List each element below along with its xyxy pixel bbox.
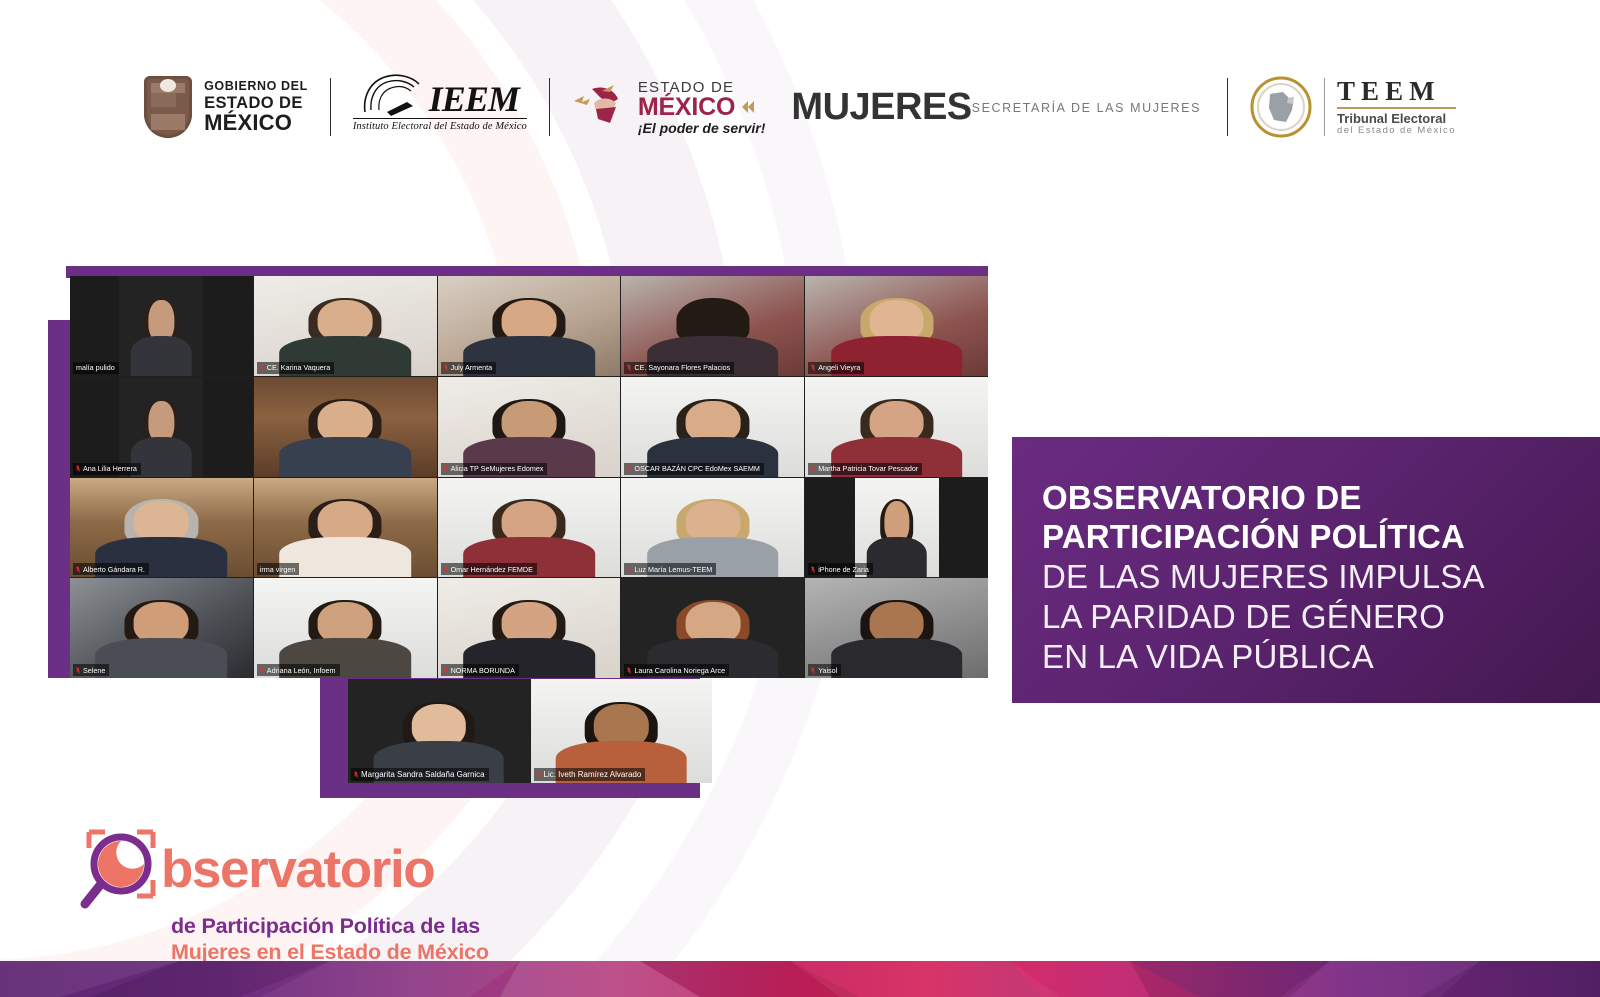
participant-nametag: Selene [73,664,109,676]
mic-muted-icon [811,667,815,674]
coat-of-arms-icon [144,76,192,138]
mic-muted-icon [260,667,264,674]
participant-name: CE. Sayonara Flores Palacios [634,363,730,372]
participant-nametag: Yaisol [808,664,841,676]
video-tile[interactable]: iPhone de Zaria [805,478,988,578]
logo-divider-2 [549,78,550,136]
mic-muted-icon [76,566,80,573]
video-tile[interactable]: Omar Hernández FEMDE [438,478,621,578]
logo-gobierno-estado-mexico: GOBIERNO DEL ESTADO DE MÉXICO [144,72,308,142]
frame-accent-left [48,320,70,678]
participant-name: Lic. Iveth Ramírez Alvarado [544,770,642,780]
title-line-3: DE LAS MUJERES IMPULSA [1042,557,1600,597]
participant-nametag: Omar Hernández FEMDE [441,563,537,575]
chevron-left-accent-icon [739,100,755,114]
participant-name: Alberto Gándara R. [83,565,145,574]
teem-rule [1337,107,1456,109]
participant-name: Yaisol [818,666,837,675]
participant-nametag: CE. Sayonara Flores Palacios [624,362,734,374]
mujeres-wordmark: MUJERES [791,88,971,126]
mic-muted-icon [811,465,815,472]
participant-name: Selene [83,666,105,675]
title-line-1: OBSERVATORIO DE [1042,479,1600,518]
video-tile[interactable]: Laura Carolina Noriega Arce [621,578,804,678]
footer-polygons [0,961,1600,997]
observatorio-wordmark: bservatorio [161,846,434,895]
mic-muted-icon [627,364,631,371]
participant-nametag: Angeli Vieyra [808,362,864,374]
mic-muted-icon [354,771,358,778]
participant-name: Alicia TP SeMujeres Edomex [451,464,544,473]
participant-name: July Armenta [451,363,493,372]
participant-name: CE. Karina Vaquera [267,363,330,372]
mic-muted-icon [76,667,80,674]
observatorio-line2: de Participación Política de las [171,914,489,939]
mujeres-subtitle: SECRETARÍA DE LAS MUJERES [972,102,1201,115]
logo-ieem: IEEM Instituto Electoral del Estado de M… [353,72,527,142]
participant-name: malía pulido [76,363,115,372]
title-panel: OBSERVATORIO DE PARTICIPACIÓN POLÍTICA D… [1012,437,1600,703]
video-tile[interactable]: Alicia TP SeMujeres Edomex [438,377,621,477]
gem-line3: MÉXICO [204,112,308,134]
participant-nametag: iPhone de Zaria [808,563,873,575]
participant-nametag: Martha Patricia Tovar Pescador [808,463,922,475]
participant-nametag: NORMA BORUNDA [441,664,519,676]
participant-nametag: Margarita Sandra Saldaña Garnica [351,768,489,781]
header-logo-strip: GOBIERNO DEL ESTADO DE MÉXICO IEEM Insti… [0,62,1600,152]
edomex-line3: ¡El poder de servir! [638,121,766,135]
video-tile[interactable]: OSCAR BAZÁN CPC EdoMex SAEMM [621,377,804,477]
participant-body [279,437,411,477]
video-feed [119,276,203,376]
participant-name: OSCAR BAZÁN CPC EdoMex SAEMM [634,464,759,473]
video-tile[interactable]: Selene [70,578,253,678]
participant-name: Omar Hernández FEMDE [451,565,533,574]
video-tile[interactable] [254,377,437,477]
participant-name: Adriana León, Infoem [267,666,336,675]
video-tile[interactable]: malía pulido [70,276,253,376]
participant-name: Margarita Sandra Saldaña Garnica [361,770,485,780]
video-tile[interactable]: CE. Karina Vaquera [254,276,437,376]
participant-body [831,638,963,678]
teem-seal-icon [1250,76,1312,138]
footer-gradient-bar [0,961,1600,997]
video-tile[interactable]: Angeli Vieyra [805,276,988,376]
participant-nametag: July Armenta [441,362,497,374]
video-tile[interactable]: Yaisol [805,578,988,678]
magnifier-icon [75,824,167,916]
video-tile[interactable]: Martha Patricia Tovar Pescador [805,377,988,477]
video-tile[interactable]: Alberto Gándara R. [70,478,253,578]
teem-line3: del Estado de México [1337,125,1456,136]
ieem-wordmark: IEEM [429,82,519,116]
participant-body [131,336,192,376]
participant-nametag: irma virgen [257,563,300,575]
mic-muted-icon [537,771,541,778]
mic-muted-icon [811,364,815,371]
title-line-4: LA PARIDAD DE GÉNERO [1042,597,1600,637]
observatorio-logo: bservatorio de Participación Política de… [75,824,489,965]
video-tile[interactable]: Margarita Sandra Saldaña Garnica [348,679,530,783]
logo-teem: TEEM Tribunal Electoral del Estado de Mé… [1250,72,1456,142]
mic-muted-icon [627,465,631,472]
mic-muted-icon [627,667,631,674]
participant-nametag: CE. Karina Vaquera [257,362,334,374]
participant-nametag: Luz María Lemus-TEEM [624,563,716,575]
mic-muted-icon [260,364,264,371]
video-tile[interactable]: irma virgen [254,478,437,578]
video-tile[interactable]: Ana Lilia Herrera [70,377,253,477]
participant-nametag: Laura Carolina Noriega Arce [624,664,729,676]
video-feed [254,377,437,477]
mic-muted-icon [444,364,448,371]
participant-nametag: OSCAR BAZÁN CPC EdoMex SAEMM [624,463,763,475]
video-tile[interactable]: NORMA BORUNDA [438,578,621,678]
title-line-2: PARTICIPACIÓN POLÍTICA [1042,518,1600,557]
participant-name: irma virgen [260,565,296,574]
hummingbird-icon [572,79,630,135]
participant-name: Martha Patricia Tovar Pescador [818,464,918,473]
video-tile[interactable]: Lic. Iveth Ramírez Alvarado [531,679,713,783]
mic-muted-icon [627,566,631,573]
video-tile[interactable]: Luz María Lemus-TEEM [621,478,804,578]
teem-wordmark: TEEM [1337,78,1456,105]
participant-nametag: Alberto Gándara R. [73,563,149,575]
gem-line2: ESTADO DE [204,95,308,112]
participant-name: NORMA BORUNDA [451,666,515,675]
video-grid: malía pulidoCE. Karina VaqueraJuly Armen… [70,276,988,678]
participant-nametag: Adriana León, Infoem [257,664,340,676]
mic-muted-icon [444,465,448,472]
edomex-line2: MÉXICO [638,95,735,120]
observatorio-word-rest: bservatorio [161,840,434,899]
ieem-subtitle: Instituto Electoral del Estado de México [353,118,527,132]
mic-muted-icon [811,566,815,573]
participant-nametag: Lic. Iveth Ramírez Alvarado [534,768,646,781]
participant-name: iPhone de Zaria [818,565,869,574]
logo-divider-1 [330,78,331,136]
participant-nametag: Alicia TP SeMujeres Edomex [441,463,548,475]
video-tile[interactable]: July Armenta [438,276,621,376]
participant-nametag: malía pulido [73,362,119,374]
mic-muted-icon [444,566,448,573]
mic-muted-icon [444,667,448,674]
title-line-5: EN LA VIDA PÚBLICA [1042,637,1600,677]
mic-muted-icon [76,465,80,472]
participant-nametag: Ana Lilia Herrera [73,463,141,475]
video-grid-bottom-row: Margarita Sandra Saldaña GarnicaLic. Ive… [348,679,712,783]
video-tile[interactable]: CE. Sayonara Flores Palacios [621,276,804,376]
participant-body [866,537,927,577]
participant-name: Ana Lilia Herrera [83,464,137,473]
logo-edomex-poder-de-servir: ESTADO DE MÉXICO ¡El poder de servir! [572,72,766,142]
teem-line2: Tribunal Electoral [1337,112,1456,126]
logo-divider-3 [1227,78,1228,136]
participant-name: Luz María Lemus-TEEM [634,565,712,574]
gem-line1: GOBIERNO DEL [204,80,308,93]
participant-body [96,638,228,678]
logo-secretaria-mujeres: MUJERES SECRETARÍA DE LAS MUJERES [791,72,1201,142]
hand-ballot-icon [361,72,423,116]
participant-name: Laura Carolina Noriega Arce [634,666,725,675]
participant-name: Angeli Vieyra [818,363,860,372]
video-tile[interactable]: Adriana León, Infoem [254,578,437,678]
